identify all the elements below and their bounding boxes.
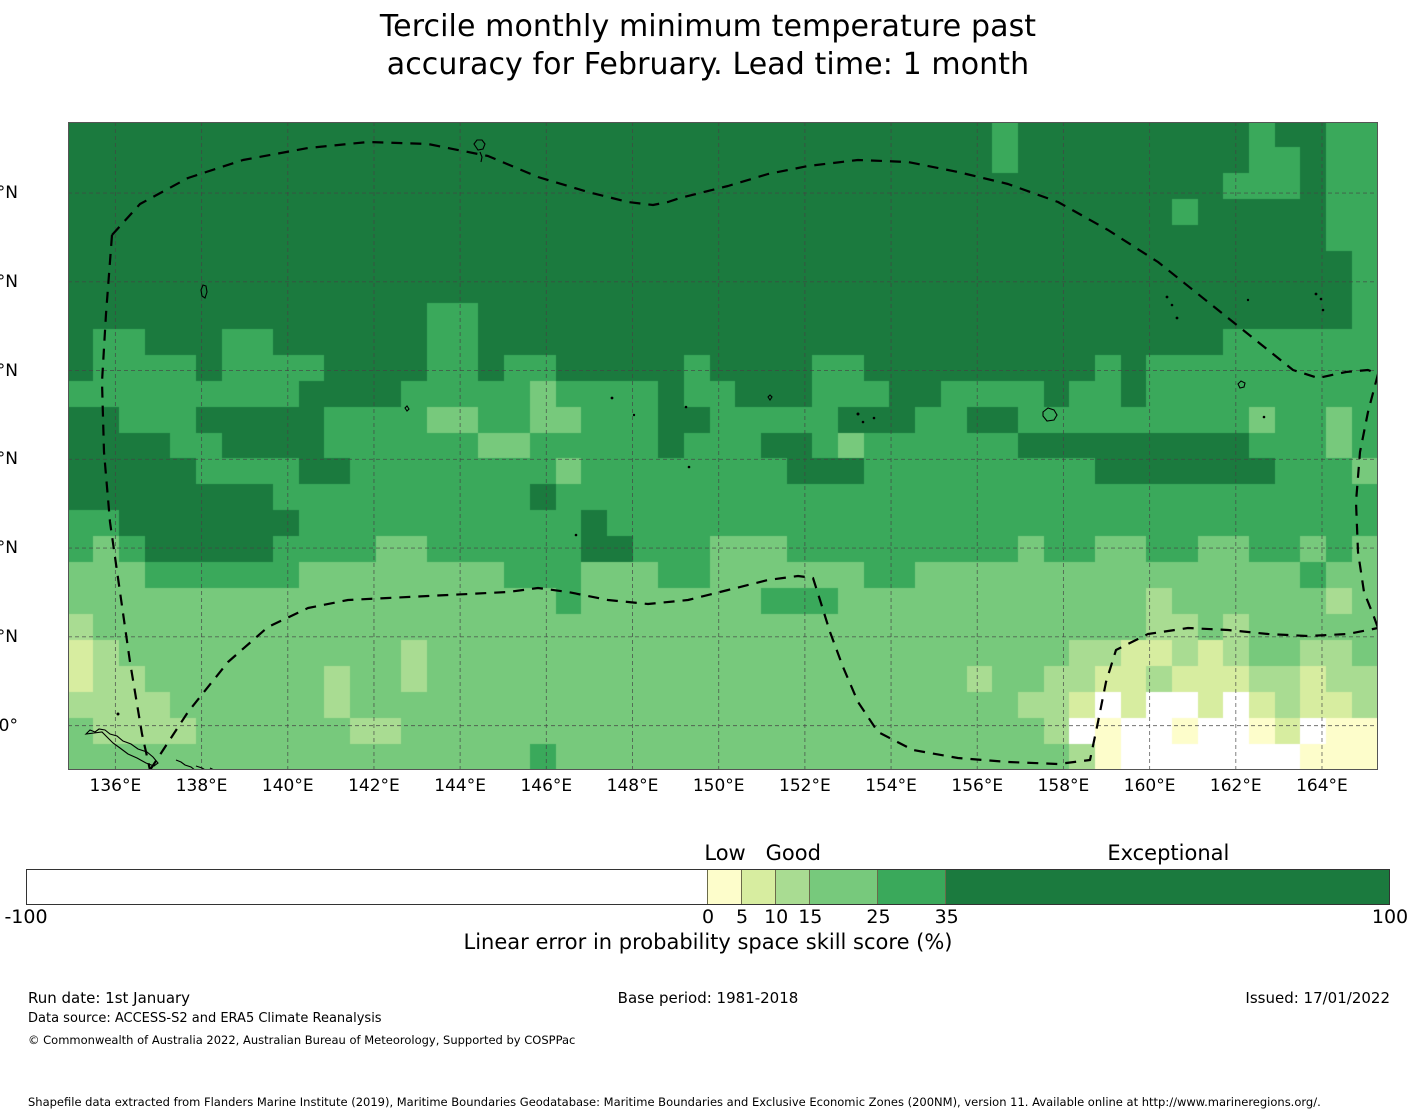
colorbar-segment-3 [776, 870, 810, 904]
latitude-tick-2°N: 2°N [0, 629, 18, 646]
footer: Run date: 1st January Base period: 1981-… [0, 988, 1416, 1116]
latitude-tick-6°N: 6°N [0, 451, 18, 468]
latitude-tick-4°N: 4°N [0, 540, 18, 557]
colorbar-tick-35: 35 [887, 908, 1007, 927]
issued-date-text: Issued: 17/01/2022 [1245, 988, 1390, 1008]
data-source-text: Data source: ACCESS-S2 and ERA5 Climate … [28, 1010, 382, 1028]
colorbar-segment-0 [27, 870, 708, 904]
colorbar-tick-100: 100 [1330, 908, 1416, 927]
map-frame-border [68, 122, 1378, 770]
colorbar-segments [26, 869, 1390, 905]
colorbar-segment-5 [878, 870, 946, 904]
copyright-text: © Commonwealth of Australia 2022, Austra… [28, 1032, 575, 1048]
colorbar-segment-2 [742, 870, 776, 904]
colorbar-category-good: Good [663, 843, 923, 864]
latitude-tick-12°N: 12°N [0, 185, 18, 202]
footer-row-4: Shapefile data extracted from Flanders M… [0, 1094, 1416, 1116]
footer-row-3: © Commonwealth of Australia 2022, Austra… [0, 1032, 1416, 1054]
base-period-text: Base period: 1981-2018 [0, 988, 1416, 1008]
footer-row-1: Run date: 1st January Base period: 1981-… [0, 988, 1416, 1010]
latitude-tick-10°N: 10°N [0, 274, 18, 291]
page-title: Tercile monthly minimum temperature past… [0, 8, 1416, 84]
colorbar-segment-1 [708, 870, 742, 904]
footer-row-2: Data source: ACCESS-S2 and ERA5 Climate … [0, 1010, 1416, 1032]
latitude-tick-8°N: 8°N [0, 363, 18, 380]
shapefile-attribution-text: Shapefile data extracted from Flanders M… [28, 1094, 1321, 1110]
colorbar [26, 869, 1390, 905]
colorbar-segment-4 [810, 870, 878, 904]
footer-spacer [0, 1054, 1416, 1094]
title-line-2: accuracy for February. Lead time: 1 mont… [387, 47, 1030, 82]
title-line-1: Tercile monthly minimum temperature past [380, 9, 1036, 44]
colorbar-axis-label: Linear error in probability space skill … [0, 930, 1416, 954]
latitude-tick-0°: 0° [0, 718, 18, 735]
colorbar-tick--100: -100 [0, 908, 86, 927]
longitude-tick-164°E: 164°E [1252, 778, 1392, 795]
map-plot-area: 12°N10°N8°N6°N4°N2°N0° 136°E138°E140°E14… [68, 122, 1378, 770]
colorbar-segment-6 [946, 870, 1389, 904]
colorbar-category-exceptional: Exceptional [1038, 843, 1298, 864]
